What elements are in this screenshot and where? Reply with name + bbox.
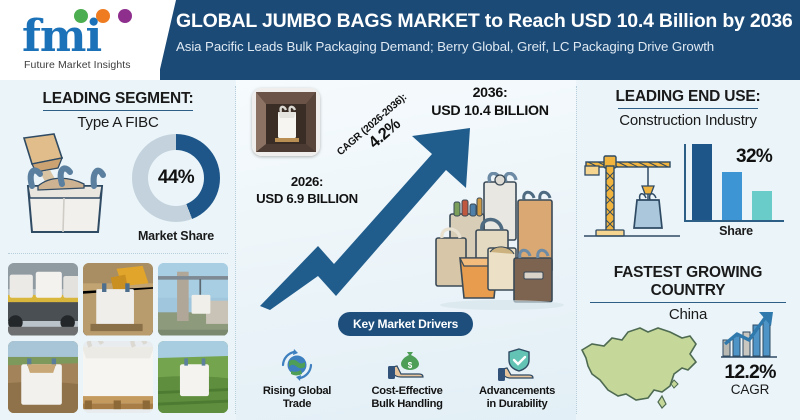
photo-excavator-filling-jumbo-bag [83, 263, 153, 336]
bar-chart-x-axis [684, 220, 784, 222]
upward-trend-bar-chart-icon [702, 308, 798, 362]
header-bar: fmi Future Market Insights GLOBAL JUMBO … [0, 0, 800, 80]
china-cagr-value: 12.2% [702, 361, 798, 384]
driver-label-line1: Cost-Effective [355, 385, 459, 398]
end-use-share-value: 32% [736, 146, 772, 168]
driver-label-line2: in Durability [465, 398, 569, 411]
driver-label-line1: Advancements [465, 385, 569, 398]
body-area: LEADING SEGMENT: Type A FIBC [0, 80, 800, 420]
heading-rule [590, 302, 786, 303]
driver-label-advancements-in-durability: Advancements in Durability [465, 385, 569, 412]
bar-construction [692, 144, 712, 220]
heading-rule [618, 108, 758, 109]
driver-item-advancements-in-durability: Advancements in Durability [465, 346, 569, 412]
driver-label-line2: Bulk Handling [355, 398, 459, 411]
leading-end-use-subheading: Construction Industry [576, 112, 800, 129]
photo-white-jumbo-bag-on-pallet [83, 341, 153, 414]
page-title: GLOBAL JUMBO BAGS MARKET to Reach USD 10… [176, 10, 792, 32]
fmi-logo[interactable]: fmi Future Market Insights [16, 9, 156, 71]
photo-jumbo-bag-in-harvested-field [8, 341, 78, 414]
driver-label-cost-effective-bulk-handling: Cost-Effective Bulk Handling [355, 385, 459, 412]
china-cagr-block: 12.2% CAGR [702, 308, 798, 414]
bar-chemicals [752, 191, 772, 220]
bar-agriculture [722, 172, 742, 220]
end-value: USD 10.4 BILLION [406, 102, 574, 120]
logo-wordmark: fmi [22, 15, 101, 59]
driver-label-line1: Rising Global [245, 385, 349, 398]
donut-label: Market Share [126, 229, 226, 243]
leading-segment-subheading: Type A FIBC [0, 114, 236, 131]
center-right-divider [576, 86, 577, 414]
leading-segment-heading: LEADING SEGMENT: [0, 90, 236, 108]
end-use-share-axis-label: Share [680, 224, 792, 238]
leading-end-use-header: LEADING END USE: Construction Industry [576, 88, 800, 129]
leading-end-use-heading: LEADING END USE: [576, 88, 800, 106]
fastest-growing-country-heading: FASTEST GROWING COUNTRY [576, 264, 800, 300]
china-cagr-caption: CAGR [702, 382, 798, 397]
jumbo-bag-photo-grid [8, 263, 228, 413]
right-column: LEADING END USE: Construction Industry [576, 80, 800, 420]
logo-tagline: Future Market Insights [24, 59, 131, 71]
center-left-divider [235, 86, 236, 414]
svg-text:$: $ [408, 361, 413, 370]
leading-segment-header: LEADING SEGMENT: Type A FIBC [0, 90, 236, 131]
drivers-list: Rising Global Trade $ Cost-E [242, 346, 572, 416]
key-market-drivers-pill: Key Market Drivers [338, 312, 473, 336]
photo-crane-lifting-jumbo-bag [158, 263, 228, 336]
photo-jumbo-bags-loaded-on-truck [8, 263, 78, 336]
globe-trade-icon [245, 346, 349, 384]
china-map-icon [578, 314, 704, 414]
infographic-root: fmi Future Market Insights GLOBAL JUMBO … [0, 0, 800, 420]
end-use-share-bar-chart: 32% Share [680, 142, 792, 246]
left-column: LEADING SEGMENT: Type A FIBC [0, 80, 236, 420]
left-divider [8, 253, 228, 254]
driver-item-rising-global-trade: Rising Global Trade [245, 346, 349, 412]
donut-ring: 44% [132, 134, 220, 222]
tower-crane-illustration [584, 142, 680, 242]
header-text-block: GLOBAL JUMBO BAGS MARKET to Reach USD 10… [176, 10, 792, 54]
driver-label-line2: Trade [245, 398, 349, 411]
fibc-bag-filling-illustration [6, 132, 124, 240]
donut-value: 44% [158, 167, 194, 189]
driver-item-cost-effective-bulk-handling: $ Cost-Effective Bulk Handling [355, 346, 459, 412]
money-bag-hand-icon: $ [355, 346, 459, 384]
logo-dot-purple-icon [118, 9, 132, 23]
assorted-bulk-bags-illustration [432, 172, 582, 312]
heading-rule [43, 110, 193, 111]
bar-chart-y-axis [684, 144, 686, 220]
end-year-label: 2036: USD 10.4 BILLION [406, 84, 574, 121]
shield-check-hand-icon [465, 346, 569, 384]
page-subtitle: Asia Pacific Leads Bulk Packaging Demand… [176, 39, 792, 54]
center-column: 2026: USD 6.9 BILLION 2036: USD 10.4 BIL… [236, 80, 576, 420]
donut-center: 44% [148, 150, 204, 206]
market-share-donut-chart: 44% Market Share [126, 134, 226, 252]
driver-label-rising-global-trade: Rising Global Trade [245, 385, 349, 412]
end-year: 2036: [406, 84, 574, 102]
photo-jumbo-bag-in-crop-field [158, 341, 228, 414]
